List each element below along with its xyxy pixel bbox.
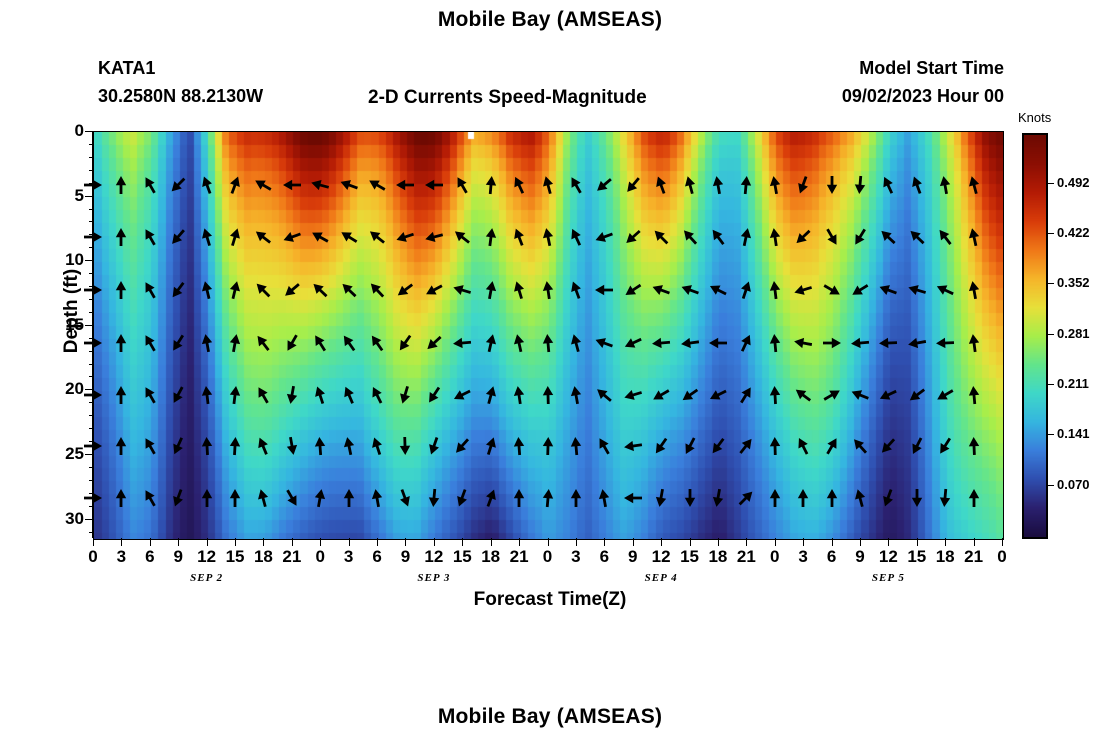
x-axis-tick-label: 9	[390, 547, 420, 567]
x-axis-tick	[832, 538, 833, 546]
x-axis-tick-label: 21	[504, 547, 534, 567]
x-axis-tick	[746, 538, 747, 546]
x-axis-tick	[576, 538, 577, 546]
x-axis-tick-label: 0	[78, 547, 108, 567]
x-axis-tick	[93, 538, 94, 546]
x-axis-tick	[405, 538, 406, 546]
x-axis-tick-label: 12	[419, 547, 449, 567]
colorbar-tick	[1046, 485, 1054, 486]
x-axis-day-label: SEP 3	[394, 572, 474, 584]
colorbar	[1022, 133, 1048, 539]
colorbar-tick-label: 0.070	[1057, 477, 1090, 492]
x-axis-tick-label: 21	[959, 547, 989, 567]
x-axis-tick	[604, 538, 605, 546]
x-axis-tick	[491, 538, 492, 546]
x-axis-tick-label: 0	[533, 547, 563, 567]
y-axis-line	[92, 131, 93, 538]
x-axis-tick-label: 0	[305, 547, 335, 567]
x-axis-tick	[320, 538, 321, 546]
x-axis-tick-label: 3	[106, 547, 136, 567]
x-axis-tick	[349, 538, 350, 546]
x-axis-tick-label: 3	[788, 547, 818, 567]
x-axis-tick-label: 18	[248, 547, 278, 567]
x-axis-tick-label: 21	[277, 547, 307, 567]
colorbar-title: Knots	[1018, 110, 1051, 125]
x-axis-tick	[121, 538, 122, 546]
x-axis-tick-label: 15	[220, 547, 250, 567]
colorbar-tick	[1046, 233, 1054, 234]
x-axis-day-label: SEP 5	[848, 572, 928, 584]
x-axis-tick-label: 6	[589, 547, 619, 567]
x-axis-tick	[548, 538, 549, 546]
x-axis-tick	[178, 538, 179, 546]
x-axis-tick	[917, 538, 918, 546]
x-axis-title: Forecast Time(Z)	[0, 589, 1100, 611]
station-coordinates-label: 30.2580N 88.2130W	[98, 86, 263, 107]
y-axis-tick-label: 10	[44, 250, 84, 270]
heatmap-plot-area	[93, 131, 1004, 540]
x-axis-tick	[207, 538, 208, 546]
x-axis-tick	[775, 538, 776, 546]
x-axis-tick-label: 0	[760, 547, 790, 567]
x-axis-tick-label: 9	[163, 547, 193, 567]
y-axis-tick-label: 5	[44, 186, 84, 206]
x-axis-tick-label: 9	[618, 547, 648, 567]
x-axis-tick-label: 12	[192, 547, 222, 567]
x-axis-tick-label: 6	[135, 547, 165, 567]
station-id-label: KATA1	[98, 58, 155, 79]
colorbar-tick-label: 0.211	[1057, 376, 1089, 391]
x-axis-tick-label: 3	[334, 547, 364, 567]
x-axis-tick	[434, 538, 435, 546]
x-axis-tick	[803, 538, 804, 546]
colorbar-tick	[1046, 384, 1054, 385]
y-axis-tick-label: 0	[44, 121, 84, 141]
x-axis-tick	[377, 538, 378, 546]
x-axis-tick-label: 21	[731, 547, 761, 567]
footer-title: Mobile Bay (AMSEAS)	[0, 705, 1100, 729]
x-axis-tick-label: 0	[987, 547, 1017, 567]
x-axis-day-label: SEP 2	[167, 572, 247, 584]
x-axis-tick	[633, 538, 634, 546]
model-start-time-value: 09/02/2023 Hour 00	[842, 86, 1004, 107]
x-axis-tick-label: 18	[476, 547, 506, 567]
x-axis-tick-label: 15	[902, 547, 932, 567]
colorbar-tick-label: 0.492	[1057, 175, 1090, 190]
x-axis-tick	[661, 538, 662, 546]
x-axis-tick-label: 15	[447, 547, 477, 567]
x-axis-tick	[462, 538, 463, 546]
x-axis-tick-label: 18	[930, 547, 960, 567]
x-axis-tick	[718, 538, 719, 546]
colorbar-tick-label: 0.422	[1057, 225, 1090, 240]
x-axis-tick	[150, 538, 151, 546]
colorbar-gradient	[1024, 135, 1046, 537]
x-axis-tick-label: 18	[703, 547, 733, 567]
x-axis-day-label: SEP 4	[621, 572, 701, 584]
x-axis-tick-label: 6	[817, 547, 847, 567]
x-axis-tick-label: 15	[675, 547, 705, 567]
x-axis-tick	[690, 538, 691, 546]
colorbar-tick	[1046, 283, 1054, 284]
x-axis-tick-label: 3	[561, 547, 591, 567]
colorbar-tick	[1046, 334, 1054, 335]
chart-subtitle: 2-D Currents Speed-Magnitude	[368, 87, 647, 109]
x-axis-tick-label: 6	[362, 547, 392, 567]
x-axis-tick	[860, 538, 861, 546]
x-axis-tick	[974, 538, 975, 546]
x-axis-tick	[888, 538, 889, 546]
x-axis-tick	[292, 538, 293, 546]
colorbar-tick	[1046, 183, 1054, 184]
y-axis-tick-label: 20	[44, 379, 84, 399]
colorbar-tick-label: 0.352	[1057, 275, 1090, 290]
x-axis-tick	[235, 538, 236, 546]
x-axis-tick	[263, 538, 264, 546]
page-title: Mobile Bay (AMSEAS)	[0, 8, 1100, 32]
y-axis-tick-label: 15	[44, 315, 84, 335]
x-axis-tick-label: 9	[845, 547, 875, 567]
colorbar-tick	[1046, 434, 1054, 435]
y-axis-tick-label: 25	[44, 444, 84, 464]
colorbar-tick-label: 0.141	[1057, 426, 1090, 441]
x-axis-tick	[945, 538, 946, 546]
x-axis-tick-label: 12	[646, 547, 676, 567]
colorbar-tick-label: 0.281	[1057, 326, 1090, 341]
x-axis-tick-label: 12	[873, 547, 903, 567]
x-axis-tick	[1002, 538, 1003, 546]
model-start-time-label: Model Start Time	[859, 58, 1004, 79]
x-axis-tick	[519, 538, 520, 546]
y-axis-tick-label: 30	[44, 509, 84, 529]
current-speed-field	[94, 132, 1003, 539]
